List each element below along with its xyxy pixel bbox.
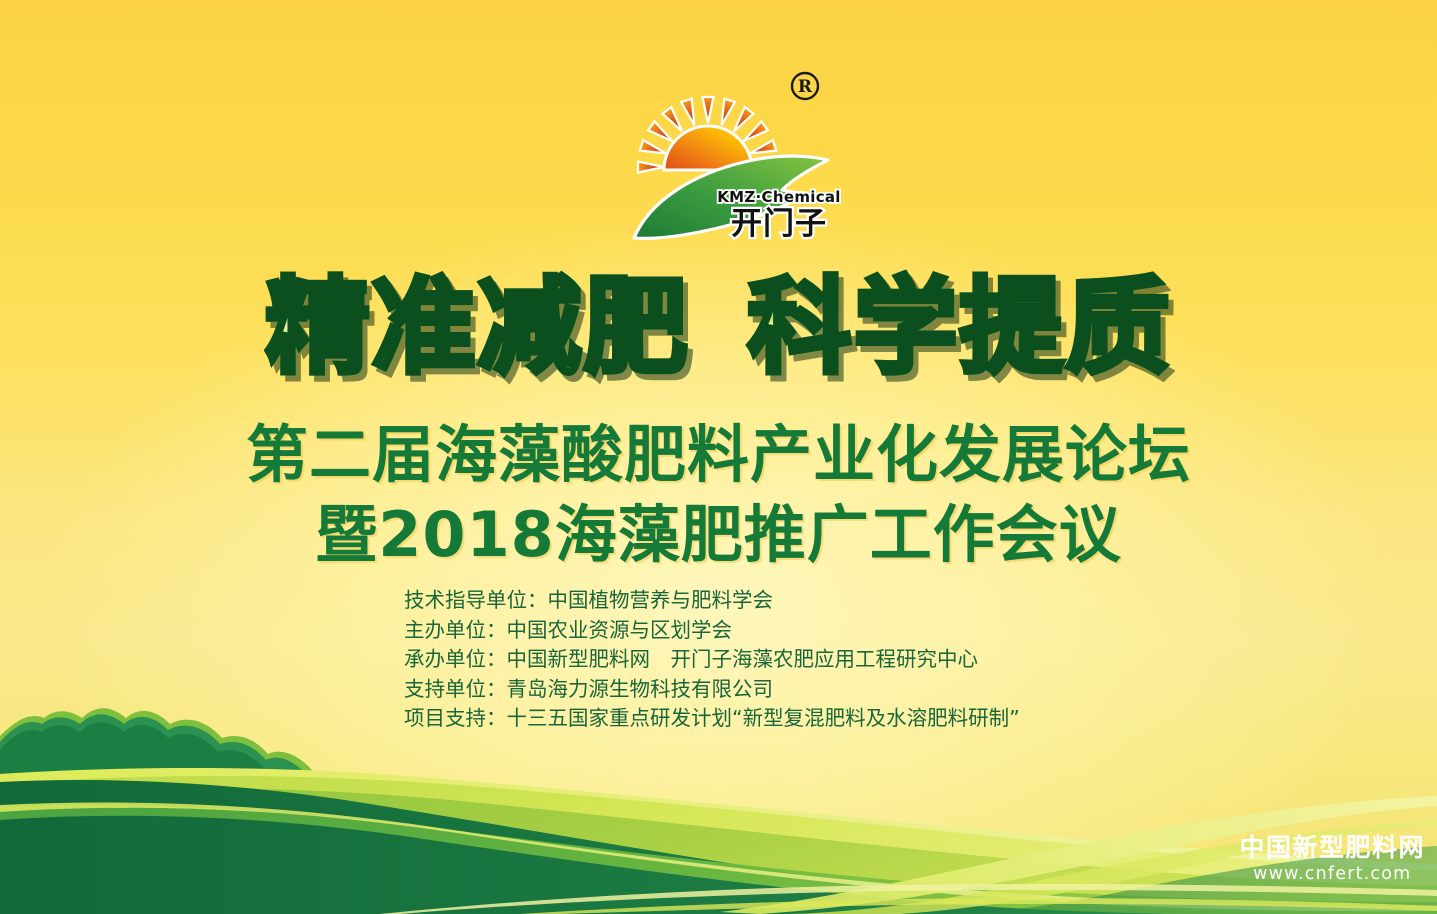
logo-latin-text: KMZ·Chemical (717, 188, 841, 206)
conference-poster: R KMZ·Chemical 开门子 精准减肥科学提质 第二届海藻酸肥料产业化发… (0, 0, 1437, 914)
info-line-technical-guidance: 技术指导单位：中国植物营养与肥料学会 (404, 586, 1164, 616)
headline-part-1: 精准减肥 (265, 266, 689, 388)
svg-text:R: R (798, 77, 813, 97)
logo-graphic: R KMZ·Chemical 开门子 (632, 62, 842, 252)
headline-part-2: 科学提质 (748, 266, 1172, 388)
poster-headline: 精准减肥科学提质 (0, 272, 1437, 382)
watermark-url: www.cnfert.com (1239, 864, 1425, 886)
landscape-svg (0, 614, 1437, 914)
subtitle-line-2: 暨2018海藻肥推广工作会议 (0, 484, 1437, 574)
landscape-illustration (0, 614, 1437, 914)
registered-trademark-icon: R (792, 73, 818, 99)
subtitle-line-1: 第二届海藻酸肥料产业化发展论坛 (0, 404, 1437, 494)
logo-chinese-text: 开门子 (731, 206, 827, 242)
site-watermark: 中国新型肥料网 www.cnfert.com (1239, 834, 1425, 886)
brand-logo: R KMZ·Chemical 开门子 (632, 62, 842, 252)
watermark-site-name: 中国新型肥料网 (1239, 834, 1425, 863)
